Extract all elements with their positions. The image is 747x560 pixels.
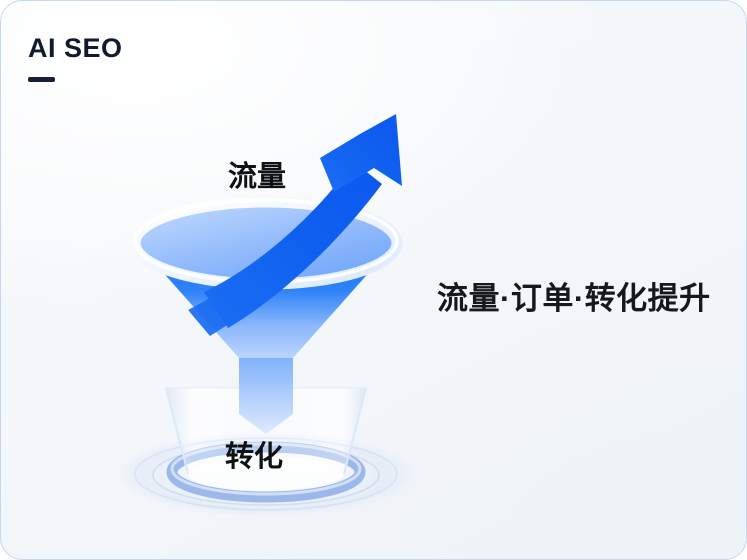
ai-seo-card: AI SEO 流量·订单·转化提升 — [0, 0, 747, 560]
label-conversion: 转化 — [225, 433, 283, 475]
label-traffic: 流量 — [228, 153, 286, 195]
title-underline-rule — [28, 77, 55, 82]
page-title: AI SEO — [28, 35, 123, 62]
tagline: 流量·订单·转化提升 — [437, 273, 711, 318]
header: AI SEO — [28, 35, 123, 82]
